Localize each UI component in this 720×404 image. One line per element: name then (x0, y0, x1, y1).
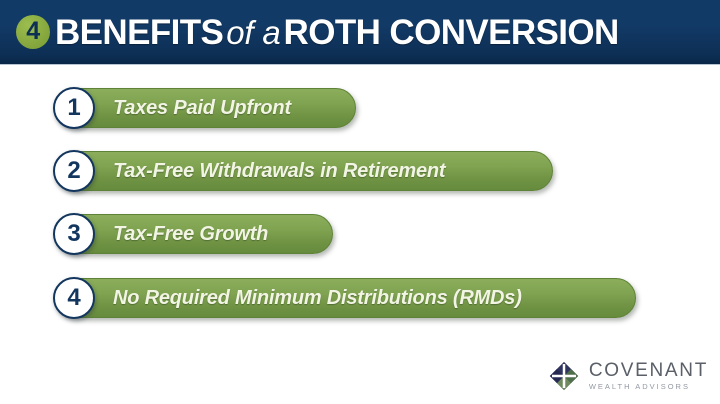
benefit-row: 1 Taxes Paid Upfront (56, 86, 356, 130)
title-connector-word: of a (223, 14, 283, 51)
slide-canvas: 4 BENEFITSof aROTH CONVERSION 1 Taxes Pa… (0, 0, 720, 404)
brand-logo: COVENANT WEALTH ADVISORS (548, 360, 708, 392)
header-title-group: 4 BENEFITSof aROTH CONVERSION (16, 0, 619, 64)
logo-company-name: COVENANT (589, 361, 708, 381)
benefit-pill: 2 Tax-Free Withdrawals in Retirement (56, 151, 553, 191)
benefit-pill: 3 Tax-Free Growth (56, 214, 333, 254)
benefit-number-value: 3 (67, 222, 80, 246)
benefit-label: Tax-Free Growth (113, 224, 268, 244)
benefit-number-badge: 1 (53, 87, 95, 129)
logo-tagline: WEALTH ADVISORS (589, 382, 708, 391)
diamond-logo-icon (548, 360, 580, 392)
title-benefits-word: BENEFITS (55, 13, 223, 52)
benefit-row: 3 Tax-Free Growth (56, 212, 333, 256)
benefit-row: 4 No Required Minimum Distributions (RMD… (56, 276, 636, 320)
benefit-number-value: 2 (67, 159, 80, 183)
benefit-number-badge: 3 (53, 213, 95, 255)
benefit-number-badge: 2 (53, 150, 95, 192)
logo-wordmark: COVENANT WEALTH ADVISORS (589, 361, 708, 392)
benefit-pill: 1 Taxes Paid Upfront (56, 88, 356, 128)
title-subject-word: ROTH CONVERSION (284, 13, 619, 52)
benefit-label: No Required Minimum Distributions (RMDs) (113, 288, 522, 308)
benefit-row: 2 Tax-Free Withdrawals in Retirement (56, 149, 553, 193)
header-band: 4 BENEFITSof aROTH CONVERSION (0, 0, 720, 64)
benefit-number-value: 4 (67, 286, 80, 310)
benefit-number-value: 1 (67, 96, 80, 120)
benefit-label: Taxes Paid Upfront (113, 98, 291, 118)
benefit-pill: 4 No Required Minimum Distributions (RMD… (56, 278, 636, 318)
page-title: BENEFITSof aROTH CONVERSION (55, 15, 619, 50)
benefit-number-badge: 4 (53, 277, 95, 319)
header-count-badge: 4 (16, 15, 50, 49)
benefit-label: Tax-Free Withdrawals in Retirement (113, 161, 445, 181)
header-count-value: 4 (26, 19, 39, 44)
